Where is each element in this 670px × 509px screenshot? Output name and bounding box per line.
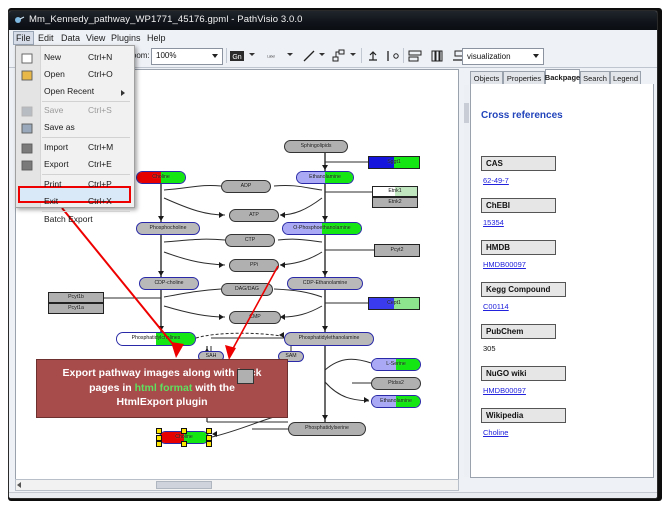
selection-handle[interactable] xyxy=(156,435,162,441)
pathway-node-adp[interactable]: ADP xyxy=(221,180,271,193)
menu-data[interactable]: Data xyxy=(58,32,83,44)
node-label: Sggt1 xyxy=(387,160,401,165)
tab-legend[interactable]: Legend xyxy=(610,71,641,84)
annotation-callout: Export pathway images along with back pa… xyxy=(36,359,288,418)
node-label: Pcyt2 xyxy=(391,248,404,253)
node-label: Phosphatidylcholines xyxy=(132,336,181,341)
menu-plugins[interactable]: Plugins xyxy=(108,32,144,44)
visualization-value: visualization xyxy=(467,52,511,61)
file-menu-item-new[interactable]: NewCtrl+N xyxy=(16,50,134,66)
tab-properties[interactable]: Properties xyxy=(503,71,545,84)
file-menu-label: Exit xyxy=(44,196,58,206)
line-icon[interactable] xyxy=(301,48,317,64)
side-panel-scrollbar[interactable] xyxy=(464,85,469,477)
node-label: L-Serine xyxy=(386,362,406,367)
chevron-down-icon[interactable] xyxy=(249,53,255,56)
node-label: DAG/DAG xyxy=(235,287,259,292)
chevron-down-icon xyxy=(212,54,218,58)
xref-header-nugo-wiki: NuGO wiki xyxy=(481,366,566,381)
save-as-icon xyxy=(21,123,33,134)
file-menu-label: Batch Export xyxy=(44,214,93,224)
pathway-node-l-serine[interactable]: L-Serine xyxy=(371,358,421,371)
file-menu-item-open-recent[interactable]: Open Recent xyxy=(16,84,134,100)
node-label: Ethanolamine xyxy=(380,399,412,404)
file-menu-popup[interactable]: NewCtrl+NOpenCtrl+OOpen RecentSaveCtrl+S… xyxy=(15,45,135,208)
pathway-node-sphingolipids[interactable]: Sphingolipids xyxy=(284,140,348,153)
arrowhead-left-icon xyxy=(280,212,285,218)
node-label: Etnk1 xyxy=(388,189,401,194)
align-center-icon[interactable] xyxy=(407,48,423,64)
node-label: Choline xyxy=(152,175,170,180)
backpage-panel-body: Cross references Expression data CAS62-4… xyxy=(470,84,654,478)
file-menu-item-save[interactable]: SaveCtrl+S xyxy=(16,103,134,119)
svg-text:Label: Label xyxy=(267,55,275,59)
file-menu-label: Print xyxy=(44,179,61,189)
pathvisio-window: Mm_Kennedy_pathway_WP1771_45176.gpml - P… xyxy=(8,10,658,499)
chevron-down-icon[interactable] xyxy=(350,53,356,56)
selection-handle[interactable] xyxy=(156,441,162,447)
toolbar-separator xyxy=(361,48,362,63)
xref-value-cas[interactable]: 62-49-7 xyxy=(483,176,509,185)
tab-search[interactable]: Search xyxy=(580,71,610,84)
pathway-node-ptdss2[interactable]: Ptdss2 xyxy=(371,377,421,390)
pathway-node-pcyt1b[interactable]: Pcyt1b xyxy=(48,292,104,303)
side-panel-tabstrip: ObjectsPropertiesBackpageSearchLegend xyxy=(470,69,654,84)
align-left-icon[interactable] xyxy=(385,48,401,64)
node-label: Pcyt1a xyxy=(68,306,84,311)
status-bar: | Gene database: ...m_Derby_20120602.bri… xyxy=(9,492,657,499)
interaction-icon[interactable] xyxy=(331,48,347,64)
arrowhead-down-icon xyxy=(158,271,164,276)
svg-text:Gn: Gn xyxy=(232,54,241,61)
file-menu-label: Save as xyxy=(44,122,75,132)
node-label: CDP-Ethanolamine xyxy=(303,281,347,286)
file-menu-separator xyxy=(42,174,130,175)
xref-value-nugo-wiki[interactable]: HMDB00097 xyxy=(483,386,526,395)
node-label: CTP xyxy=(245,238,255,243)
xref-header-cas: CAS xyxy=(481,156,556,171)
file-menu-shortcut: Ctrl+P xyxy=(88,179,112,189)
toolbar-separator xyxy=(403,48,404,63)
file-menu-shortcut: Ctrl+X xyxy=(88,196,112,206)
file-menu-label: Export xyxy=(44,159,69,169)
file-menu-item-print[interactable]: PrintCtrl+P xyxy=(16,177,134,193)
arrowhead-down-icon xyxy=(322,326,328,331)
annotation-line2-pre: pages in xyxy=(89,382,135,394)
pathway-node-cdp-ethanolamine[interactable]: CDP-Ethanolamine xyxy=(287,277,363,290)
pathway-node-cept1[interactable]: Cept1 xyxy=(368,297,420,310)
file-menu-item-exit[interactable]: ExitCtrl+X xyxy=(16,194,134,210)
node-label: Phosphatidylserine xyxy=(305,426,349,431)
pathway-node-cdp-choline[interactable]: CDP-choline xyxy=(139,277,199,290)
pathway-node-phosphatidylethanolamine[interactable]: Phosphatidylethanolamine xyxy=(284,332,374,346)
scrollbar-thumb[interactable] xyxy=(156,481,212,489)
pathway-node-sggt1[interactable]: Sggt1 xyxy=(368,156,420,169)
selection-handle[interactable] xyxy=(181,428,187,434)
tab-backpage[interactable]: Backpage xyxy=(545,69,580,84)
file-menu-separator xyxy=(42,101,130,102)
arrowhead-down-icon xyxy=(322,271,328,276)
node-label: Pcyt1b xyxy=(68,295,84,300)
new-file-icon xyxy=(21,53,33,64)
arrowhead-right-icon xyxy=(364,397,369,403)
file-menu-shortcut: Ctrl+N xyxy=(88,52,112,62)
annotation-highlight: html format xyxy=(135,382,193,394)
menu-view[interactable]: View xyxy=(83,32,108,44)
arrowhead-down-icon xyxy=(158,326,164,331)
file-menu-shortcut: Ctrl+S xyxy=(88,105,112,115)
xref-header-wikipedia: Wikipedia xyxy=(481,408,566,423)
file-menu-item-save-as[interactable]: Save as xyxy=(16,120,134,136)
pathway-node-pemt[interactable] xyxy=(237,369,254,384)
pathway-node-o-phosphoethanolamine[interactable]: O-Phosphoethanolamine xyxy=(282,222,362,235)
zoom-select[interactable]: 100% xyxy=(151,48,223,65)
canvas-horizontal-scrollbar[interactable] xyxy=(15,479,459,491)
selection-handle[interactable] xyxy=(156,428,162,434)
pathway-node-ppi[interactable]: PPi xyxy=(229,259,279,272)
pathway-node-ethanolamine[interactable]: Ethanolamine xyxy=(296,171,354,184)
file-menu-label: Save xyxy=(44,105,63,115)
pathway-node-choline[interactable]: Choline xyxy=(136,171,186,184)
arrowhead-left-icon xyxy=(280,262,285,268)
file-menu-label: New xyxy=(44,52,61,62)
xref-value-chebi[interactable]: 15354 xyxy=(483,218,504,227)
visualization-select[interactable]: visualization xyxy=(462,48,544,65)
xref-value-wikipedia[interactable]: Choline xyxy=(483,428,508,437)
annotation-line3: HtmlExport plugin xyxy=(43,395,281,410)
arrowhead-left-icon xyxy=(212,431,217,437)
arrowhead-right-icon xyxy=(219,212,224,218)
xref-value-kegg-compound[interactable]: C00114 xyxy=(483,302,509,311)
file-menu-item-export[interactable]: ExportCtrl+E xyxy=(16,157,134,173)
file-menu-shortcut: Ctrl+M xyxy=(88,142,113,152)
menu-edit[interactable]: Edit xyxy=(35,32,57,44)
xref-header-pubchem: PubChem xyxy=(481,324,556,339)
xref-value-pubchem: 305 xyxy=(483,344,496,353)
open-folder-icon xyxy=(21,70,33,81)
chevron-right-icon xyxy=(121,90,125,96)
chevron-down-icon[interactable] xyxy=(287,53,293,56)
toolbar-separator xyxy=(226,48,227,63)
node-label: CMP xyxy=(249,315,261,320)
pathway-node-etnk2[interactable]: Etnk2 xyxy=(372,197,418,208)
file-menu-label: Open Recent xyxy=(44,86,94,96)
label-icon[interactable]: Label xyxy=(263,48,279,64)
file-menu-separator xyxy=(42,137,130,138)
import-icon xyxy=(21,143,33,154)
node-label: Cept1 xyxy=(387,301,401,306)
xref-header-kegg-compound: Kegg Compound xyxy=(481,282,566,297)
save-disk-icon xyxy=(21,106,33,117)
node-label: Etnk2 xyxy=(388,200,401,205)
node-label: Ethanolamine xyxy=(309,175,341,180)
arrowhead-down-icon xyxy=(158,216,164,221)
menu-file[interactable]: File xyxy=(13,31,34,45)
tab-objects[interactable]: Objects xyxy=(470,71,503,84)
pathway-node-ethanolamine[interactable]: Ethanolamine xyxy=(371,395,421,408)
file-menu-item-import[interactable]: ImportCtrl+M xyxy=(16,140,134,156)
distribute-icon[interactable] xyxy=(429,48,445,64)
file-menu-item-open[interactable]: OpenCtrl+O xyxy=(16,67,134,83)
zoom-value: 100% xyxy=(156,51,176,60)
menu-help[interactable]: Help xyxy=(144,32,169,44)
window-title: Mm_Kennedy_pathway_WP1771_45176.gpml - P… xyxy=(29,14,303,25)
node-label: PPi xyxy=(250,263,258,268)
pathway-node-dag-dag[interactable]: DAG/DAG xyxy=(221,283,273,296)
xref-header-chebi: ChEBI xyxy=(481,198,556,213)
arrowhead-down-icon xyxy=(322,165,328,170)
arrowhead-right-icon xyxy=(219,262,224,268)
arrowhead-down-icon xyxy=(322,216,328,221)
file-menu-label: Open xyxy=(44,69,65,79)
arrowhead-right-icon xyxy=(219,314,224,320)
screenshot-frame: Mm_Kennedy_pathway_WP1771_45176.gpml - P… xyxy=(0,0,670,509)
file-menu-shortcut: Ctrl+E xyxy=(88,159,112,169)
menu-bar: FileEditDataViewPluginsHelp xyxy=(9,30,657,46)
datanode-icon[interactable]: Gn xyxy=(229,48,245,64)
pathway-node-atp[interactable]: ATP xyxy=(229,209,279,222)
cross-references-title: Cross references xyxy=(481,110,563,121)
scroll-left-arrow-icon[interactable] xyxy=(17,482,21,488)
node-label: Phosphatidylethanolamine xyxy=(299,336,360,341)
node-label: Phosphocholine xyxy=(150,226,187,231)
node-label: CDP-choline xyxy=(154,281,183,286)
xref-value-hmdb[interactable]: HMDB00097 xyxy=(483,260,526,269)
file-menu-label: Import xyxy=(44,142,68,152)
pathway-node-pcyt1a[interactable]: Pcyt1a xyxy=(48,303,104,314)
xref-header-hmdb: HMDB xyxy=(481,240,556,255)
file-menu-item-batch-export[interactable]: Batch Export xyxy=(16,212,134,228)
file-menu-shortcut: Ctrl+O xyxy=(88,69,113,79)
node-label: O-Phosphoethanolamine xyxy=(293,226,350,231)
selection-handle[interactable] xyxy=(206,428,212,434)
side-panel-scroll-thumb[interactable] xyxy=(464,103,469,123)
arrowhead-down-icon xyxy=(322,415,328,420)
title-bar: Mm_Kennedy_pathway_WP1771_45176.gpml - P… xyxy=(9,11,657,31)
selection-handle[interactable] xyxy=(206,435,212,441)
side-panel: ObjectsPropertiesBackpageSearchLegend Cr… xyxy=(464,69,654,478)
annotation-line2-post: with the xyxy=(192,382,235,394)
pathway-node-cmp[interactable]: CMP xyxy=(229,311,281,324)
node-label: Ptdss2 xyxy=(388,381,404,386)
node-label: Sphingolipids xyxy=(301,144,332,149)
pathway-node-phosphatidylserine[interactable]: Phosphatidylserine xyxy=(288,422,366,436)
pathway-node-ctp[interactable]: CTP xyxy=(225,234,275,247)
chevron-down-icon xyxy=(533,54,539,58)
selection-handle[interactable] xyxy=(206,441,212,447)
selection-handle[interactable] xyxy=(181,441,187,447)
export-icon xyxy=(21,160,33,171)
node-label: ATP xyxy=(249,213,259,218)
pathvisio-app-icon xyxy=(14,15,25,26)
align-top-icon[interactable] xyxy=(365,48,381,64)
pathway-node-phosphocholine[interactable]: Phosphocholine xyxy=(136,222,200,235)
status-bar-text: | Gene database: ...m_Derby_20120602.bri… xyxy=(15,497,491,499)
pathway-node-etnk1[interactable]: Etnk1 xyxy=(372,186,418,197)
node-label: ADP xyxy=(241,184,252,189)
chevron-down-icon[interactable] xyxy=(319,53,325,56)
pathway-node-pcyt2[interactable]: Pcyt2 xyxy=(374,244,420,257)
node-label: Choline xyxy=(175,435,193,440)
pathway-node-phosphatidylcholines[interactable]: Phosphatidylcholines xyxy=(116,332,196,346)
